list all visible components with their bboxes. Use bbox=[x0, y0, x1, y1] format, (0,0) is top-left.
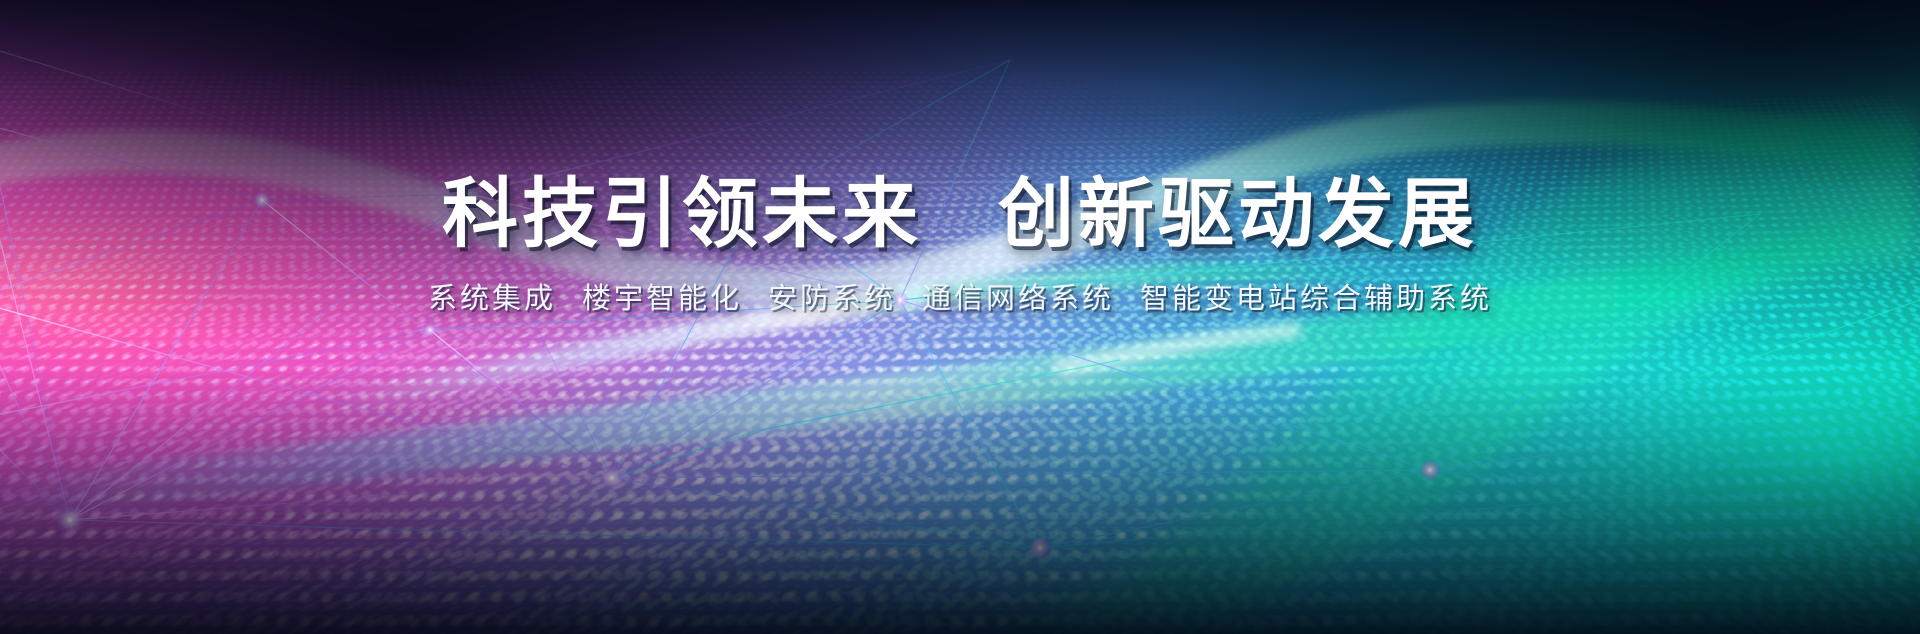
subtitle-item-5: 智能变电站综合辅助系统 bbox=[1140, 281, 1492, 315]
hero-banner: 科技引领未来创新驱动发展 系统集成楼宇智能化安防系统通信网络系统智能变电站综合辅… bbox=[0, 0, 1920, 634]
subtitle-item-3: 安防系统 bbox=[768, 281, 896, 315]
subtitle-item-4: 通信网络系统 bbox=[922, 281, 1114, 315]
headline-phrase-1: 科技引领未来 bbox=[442, 169, 922, 258]
network-mesh-lines bbox=[0, 0, 1920, 634]
banner-headline: 科技引领未来创新驱动发展 bbox=[0, 176, 1920, 252]
subtitle-item-2: 楼宇智能化 bbox=[582, 281, 742, 315]
banner-subtitle: 系统集成楼宇智能化安防系统通信网络系统智能变电站综合辅助系统 bbox=[0, 284, 1920, 313]
subtitle-item-1: 系统集成 bbox=[428, 281, 556, 315]
headline-phrase-2: 创新驱动发展 bbox=[998, 169, 1478, 258]
banner-copy: 科技引领未来创新驱动发展 系统集成楼宇智能化安防系统通信网络系统智能变电站综合辅… bbox=[0, 176, 1920, 313]
